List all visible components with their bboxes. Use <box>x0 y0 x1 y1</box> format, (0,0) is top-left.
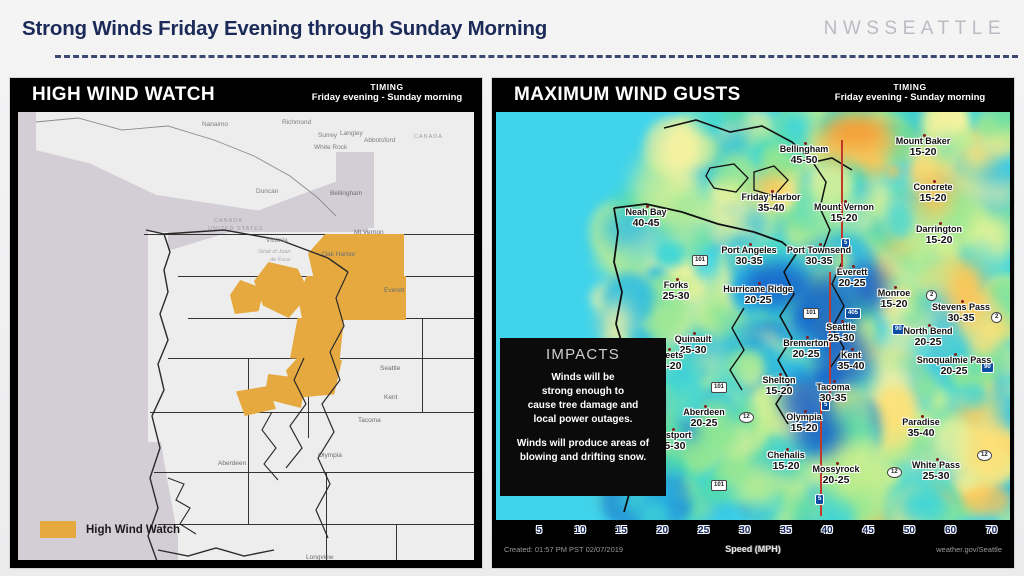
water-label: Strait of Juan <box>258 249 290 255</box>
legend-swatch-high-wind-watch <box>40 521 76 538</box>
highway-shield-12: 12 <box>977 450 992 461</box>
gust-city-marker <box>894 286 897 289</box>
nws-seattle-logo: NWSSEATTLE <box>824 18 1006 40</box>
gust-city-marker <box>939 222 942 225</box>
colorbar-tick: 60 <box>945 525 956 536</box>
colorbar-tick: 10 <box>575 525 586 536</box>
page-title: Strong Winds Friday Evening through Sund… <box>22 17 547 41</box>
gust-city-marker <box>836 462 839 465</box>
colorbar-tick: 70 <box>986 525 997 536</box>
gust-city-marker <box>749 243 752 246</box>
city-label: Tacoma <box>358 417 381 424</box>
gust-city-marker <box>786 448 789 451</box>
city-label: Victoria <box>266 237 288 244</box>
impact-line: strong enough to <box>500 385 666 399</box>
gust-city-marker <box>833 380 836 383</box>
legend-label: High Wind Watch <box>86 524 180 536</box>
colorbar-legend: 51015202530354045506070 Created: 01:57 P… <box>496 520 1010 564</box>
gust-city-marker <box>804 410 807 413</box>
city-label: Langley <box>340 130 363 137</box>
highway-shield-12: 12 <box>887 467 902 478</box>
city-label: Nanaimo <box>202 121 228 128</box>
border-label: CANADA <box>414 134 443 140</box>
highway-shield-i5: 5 <box>821 400 830 411</box>
gust-city-marker <box>646 205 649 208</box>
gust-city-marker <box>804 142 807 145</box>
high-wind-watch-panel: HIGH WIND WATCH TIMING Friday evening - … <box>10 78 482 568</box>
colorbar-tick: 40 <box>822 525 833 536</box>
graphic-root: Strong Winds Friday Evening through Sund… <box>0 0 1024 576</box>
gust-city-marker <box>819 243 822 246</box>
right-panel-title: MAXIMUM WIND GUSTS <box>514 84 741 106</box>
gust-city-marker <box>954 353 957 356</box>
right-timing: TIMING Friday evening - Sunday morning <box>812 82 1008 104</box>
city-label: Oak Harbor <box>322 251 356 258</box>
highway-shield-12: 12 <box>739 412 754 423</box>
colorbar-units-label: Speed (MPH) <box>496 544 1010 554</box>
colorbar-tick: 5 <box>536 525 542 536</box>
impacts-title: IMPACTS <box>500 346 666 363</box>
right-timing-value: Friday evening - Sunday morning <box>812 92 1008 104</box>
gust-city-marker <box>852 265 855 268</box>
right-panel-header: MAXIMUM WIND GUSTS TIMING Friday evening… <box>492 78 1014 112</box>
source-url: weather.gov/Seattle <box>936 545 1002 554</box>
right-timing-label: TIMING <box>812 82 1008 92</box>
gust-map[interactable]: 101 101 101 101 5 405 90 90 5 5 2 2 12 1… <box>496 112 1010 564</box>
left-timing-value: Friday evening - Sunday morning <box>294 92 480 104</box>
gust-city-marker <box>928 324 931 327</box>
header-divider <box>55 55 1018 58</box>
gust-city-marker <box>851 348 854 351</box>
colorbar-tick: 20 <box>657 525 668 536</box>
coastline-outline <box>18 112 474 560</box>
left-timing: TIMING Friday evening - Sunday morning <box>294 82 480 104</box>
interstate-5-road <box>829 272 831 402</box>
colorbar-ticks: 51015202530354045506070 <box>502 524 1004 541</box>
highway-shield-101: 101 <box>711 480 727 491</box>
highway-shield-i405: 405 <box>845 308 861 319</box>
impacts-box: IMPACTS Winds will be strong enough to c… <box>500 338 666 496</box>
colorbar-tick: 15 <box>616 525 627 536</box>
gust-city-marker <box>806 336 809 339</box>
impact-line: Winds will be <box>500 371 666 385</box>
highway-shield-i5: 5 <box>815 494 824 505</box>
gust-city-marker <box>668 348 671 351</box>
gust-city-marker <box>961 300 964 303</box>
left-panel-title: HIGH WIND WATCH <box>32 84 215 106</box>
border-label: UNITED STATES <box>208 226 264 232</box>
border-label: CANADA <box>214 218 243 224</box>
highway-shield-101: 101 <box>803 308 819 319</box>
city-label: Richmond <box>282 119 311 126</box>
gust-city-marker <box>936 458 939 461</box>
max-wind-gusts-panel: MAXIMUM WIND GUSTS TIMING Friday evening… <box>492 78 1014 568</box>
header: Strong Winds Friday Evening through Sund… <box>0 0 1024 68</box>
gust-city-marker <box>676 278 679 281</box>
watch-legend: High Wind Watch <box>40 521 180 538</box>
city-label: Everett <box>384 287 405 294</box>
gust-city-marker <box>693 332 696 335</box>
city-label: Mt Vernon <box>354 229 384 236</box>
gust-city-marker <box>921 415 924 418</box>
highway-shield-i90: 90 <box>981 362 994 373</box>
city-label: Longview <box>306 554 333 560</box>
watch-map[interactable]: Nanaimo Richmond Surrey Langley White Ro… <box>18 112 474 560</box>
impact-line: Winds will produce areas of <box>500 437 666 451</box>
city-label: Abbotsford <box>364 137 395 144</box>
city-label: Olympia <box>318 452 342 459</box>
interstate-5-road <box>841 140 843 272</box>
gust-city-marker <box>779 373 782 376</box>
right-map-frame: 101 101 101 101 5 405 90 90 5 5 2 2 12 1… <box>496 112 1010 564</box>
impacts-spacer <box>500 427 666 437</box>
city-label: Surrey <box>318 132 337 139</box>
gust-city-marker <box>758 282 761 285</box>
highway-shield-i90: 90 <box>892 324 905 335</box>
gust-city-marker <box>933 180 936 183</box>
impact-line: local power outages. <box>500 413 666 427</box>
left-panel-header: HIGH WIND WATCH TIMING Friday evening - … <box>10 78 482 112</box>
colorbar-tick: 25 <box>698 525 709 536</box>
left-timing-label: TIMING <box>294 82 480 92</box>
gust-city-marker <box>672 428 675 431</box>
gust-city-marker <box>844 200 847 203</box>
gust-city-marker <box>841 320 844 323</box>
city-label: Seattle <box>380 365 400 372</box>
gust-city-marker <box>771 190 774 193</box>
city-label: Aberdeen <box>218 460 246 467</box>
highway-shield-101: 101 <box>692 255 708 266</box>
impact-line: cause tree damage and <box>500 399 666 413</box>
colorbar-tick: 45 <box>863 525 874 536</box>
city-label: Kent <box>384 394 397 401</box>
highway-shield-101: 101 <box>711 382 727 393</box>
city-label: White Rock <box>314 144 347 151</box>
water-label: de Fuca <box>270 257 290 263</box>
left-map-frame: Nanaimo Richmond Surrey Langley White Ro… <box>18 112 474 560</box>
colorbar-tick: 35 <box>780 525 791 536</box>
city-label: Duncan <box>256 188 278 195</box>
colorbar-tick: 30 <box>739 525 750 536</box>
colorbar-tick: 50 <box>904 525 915 536</box>
impact-line: blowing and drifting snow. <box>500 451 666 465</box>
city-label: Bellingham <box>330 190 362 197</box>
gust-city-marker <box>923 134 926 137</box>
highway-shield-i5: 5 <box>841 238 850 249</box>
gust-city-marker <box>704 405 707 408</box>
